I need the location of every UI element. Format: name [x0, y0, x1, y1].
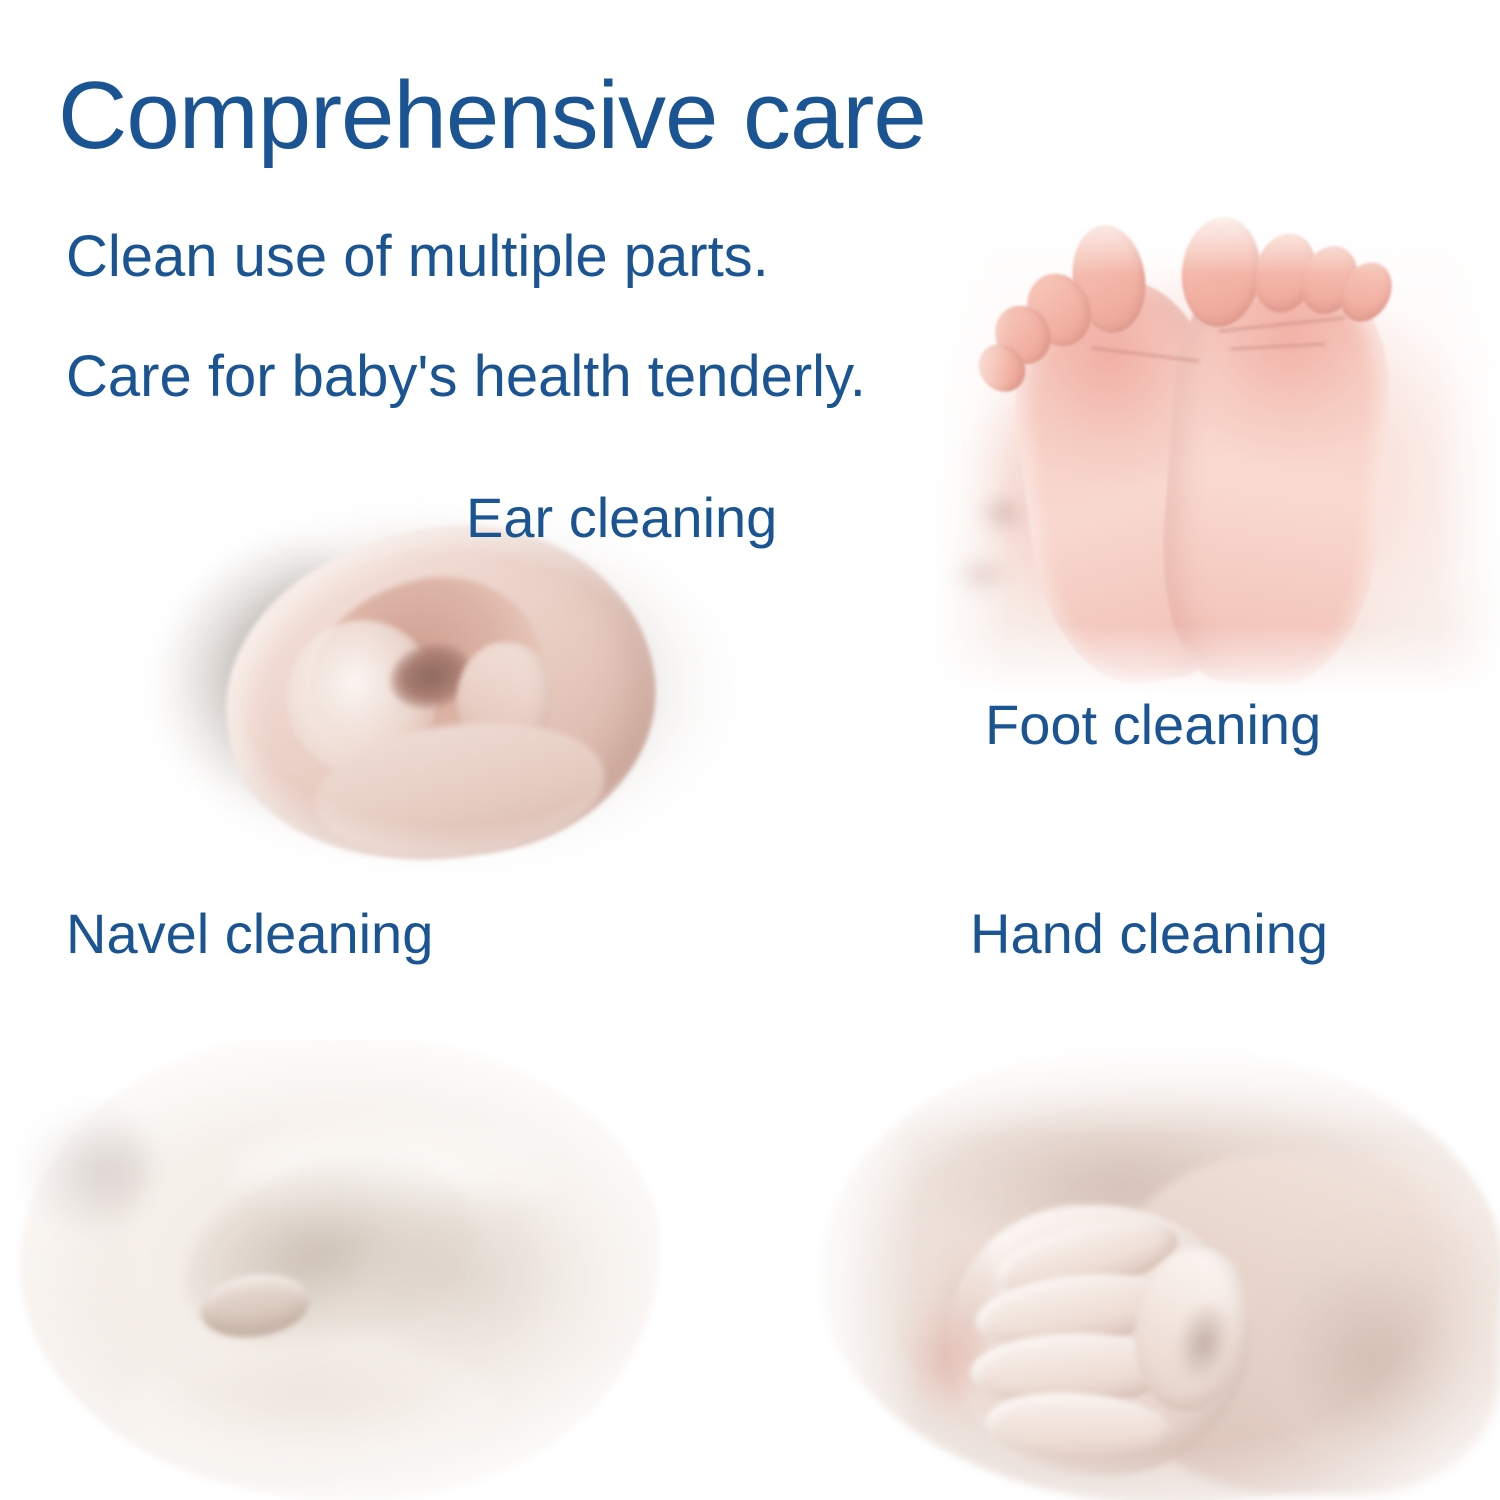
- feature-label-navel-cleaning: Navel cleaning: [66, 906, 433, 962]
- feature-label-foot-cleaning: Foot cleaning: [985, 697, 1321, 753]
- feet-photo-fade-mask: [930, 195, 1500, 695]
- subtitle-line-2: Care for baby's health tenderly.: [66, 348, 866, 406]
- hand-photo-fade-mask: [790, 1035, 1500, 1500]
- subtitle-line-1: Clean use of multiple parts.: [66, 228, 769, 286]
- baby-hand-fist-photo: [790, 1035, 1500, 1500]
- feature-label-ear-cleaning: Ear cleaning: [466, 490, 777, 546]
- baby-navel-closeup-photo: [0, 1040, 690, 1500]
- feature-label-hand-cleaning: Hand cleaning: [970, 906, 1328, 962]
- navel-photo-fade-mask: [0, 1040, 690, 1500]
- page-title: Comprehensive care: [58, 68, 926, 164]
- baby-feet-soles-photo: [930, 195, 1500, 695]
- comprehensive-care-banner: Comprehensive care Clean use of multiple…: [0, 0, 1500, 1500]
